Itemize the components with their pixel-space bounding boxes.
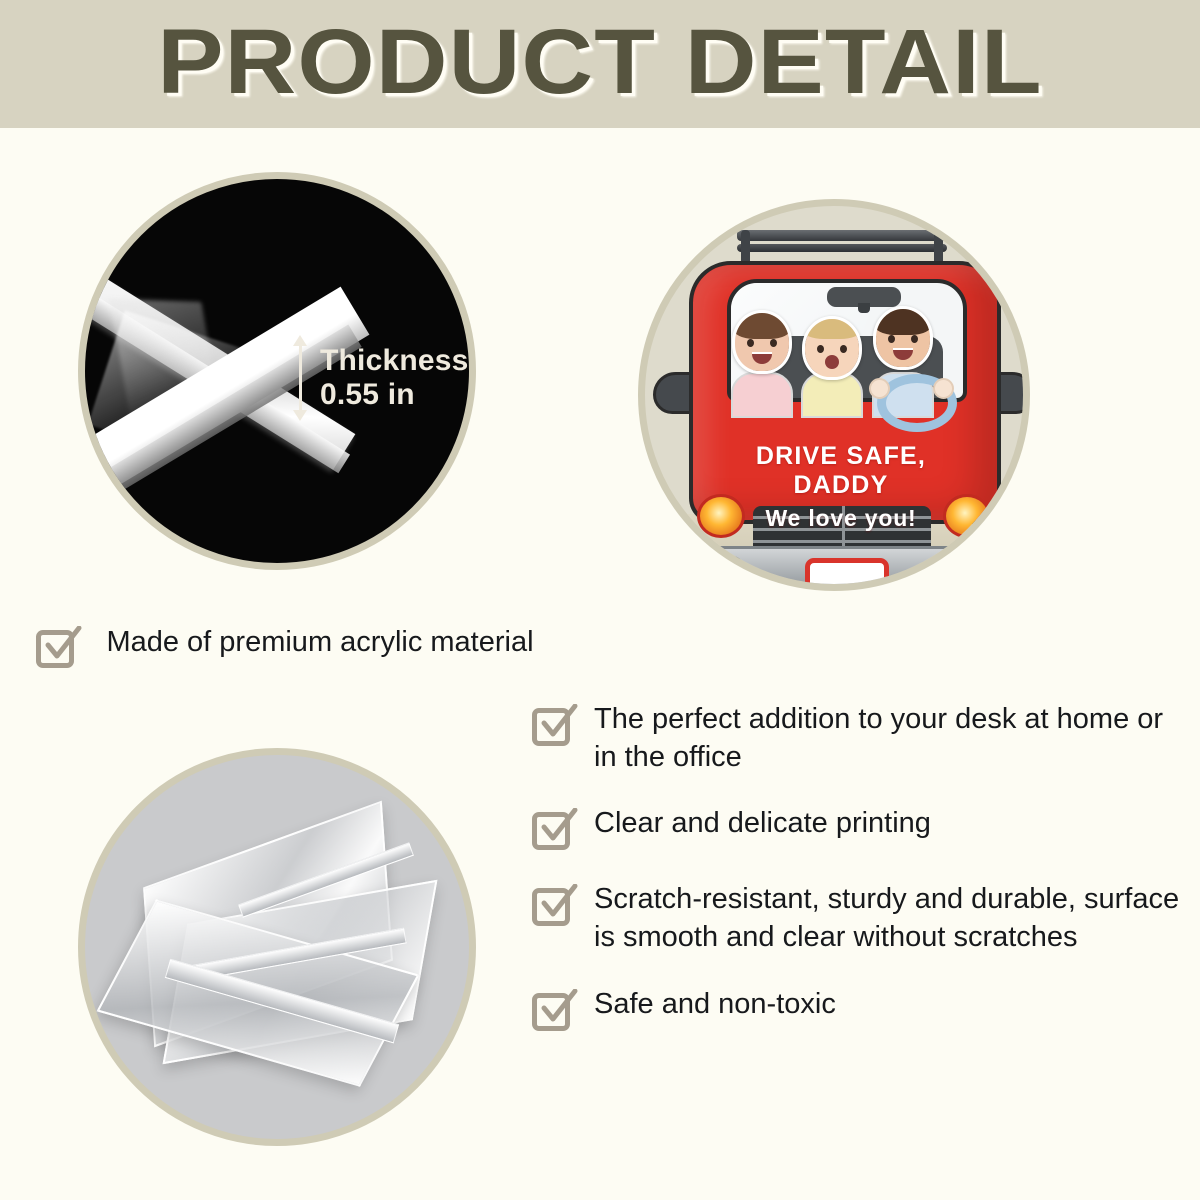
car-caption-line1: DRIVE SAFE, DADDY: [715, 442, 967, 500]
thickness-label-line1: Thickness: [320, 344, 469, 379]
feature-label: Scratch-resistant, sturdy and durable, s…: [594, 880, 1190, 956]
child-photo-girl: [727, 310, 797, 418]
double-arrow-icon: [292, 335, 308, 421]
check-box-icon: [530, 985, 578, 1033]
feature-label: Clear and delicate printing: [594, 804, 931, 843]
check-box-icon: [530, 804, 578, 852]
car-illustration: DRIVE SAFE, DADDY We love you!: [645, 206, 1030, 591]
feature-item-premium-acrylic: Made of premium acrylic material: [34, 622, 544, 670]
thickness-label: Thickness 0.55 in: [320, 344, 469, 413]
child-photo-baby: [797, 316, 867, 418]
child-boy-head: [873, 306, 933, 370]
disc-acrylic-sheets-stack: [78, 748, 476, 1146]
feature-item-scratch-resistant: Scratch-resistant, sturdy and durable, s…: [530, 880, 1190, 956]
check-mark-icon: [538, 884, 578, 924]
feature-label: Safe and non-toxic: [594, 985, 836, 1024]
child-girl-torso: [731, 372, 793, 418]
header-band: PRODUCT DETAIL: [0, 0, 1200, 128]
check-box-icon: [530, 880, 578, 928]
check-box-icon: [34, 622, 82, 670]
feature-item-safe-non-toxic: Safe and non-toxic: [530, 985, 1190, 1033]
license-plate: [805, 558, 889, 591]
roof-rack-bar-top: [737, 230, 947, 241]
roof-rack-bar-bottom: [737, 244, 947, 252]
feature-item-clear-printing: Clear and delicate printing: [530, 804, 1190, 852]
check-mark-icon: [538, 808, 578, 848]
thickness-label-line2: 0.55 in: [320, 378, 469, 413]
check-box-icon: [530, 700, 578, 748]
page-title: PRODUCT DETAIL: [157, 16, 1042, 112]
hand-right: [933, 378, 954, 399]
check-mark-icon: [42, 626, 82, 666]
car-caption-line2: We love you!: [715, 505, 967, 532]
feature-item-desk-addition: The perfect addition to your desk at hom…: [530, 700, 1190, 776]
car-caption: DRIVE SAFE, DADDY We love you!: [715, 442, 967, 532]
thickness-annotation: Thickness 0.55 in: [292, 335, 469, 421]
disc-car-product-preview: DRIVE SAFE, DADDY We love you!: [638, 199, 1030, 591]
feature-label: Made of premium acrylic material: [96, 622, 544, 661]
child-baby-head: [802, 316, 862, 380]
check-mark-icon: [538, 989, 578, 1029]
feature-list: The perfect addition to your desk at hom…: [530, 700, 1190, 1061]
child-girl-head: [732, 310, 792, 374]
check-mark-icon: [538, 704, 578, 744]
feature-label: The perfect addition to your desk at hom…: [594, 700, 1190, 776]
rearview-mirror: [827, 287, 901, 307]
hand-left: [869, 378, 890, 399]
